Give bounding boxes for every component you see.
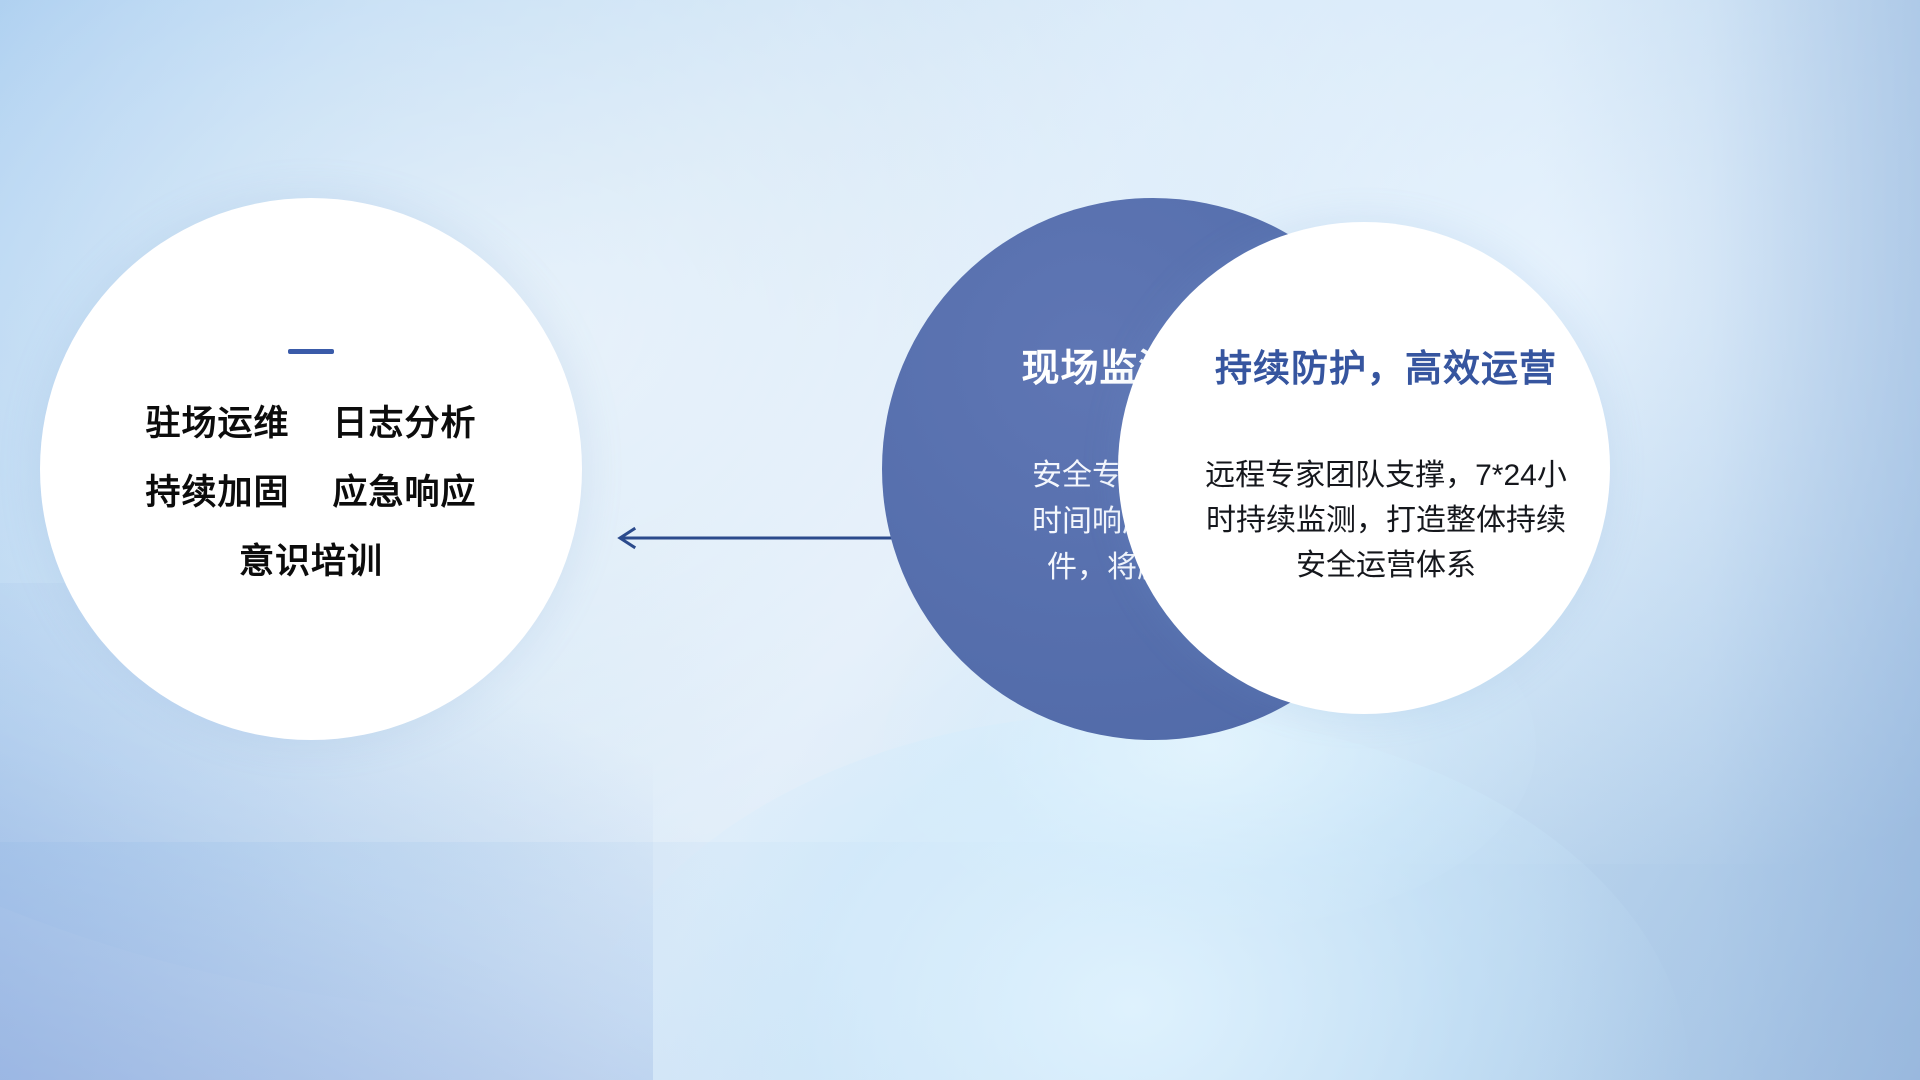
accent-divider bbox=[288, 349, 334, 354]
capability-list: 驻场运维 日志分析 持续加固 应急响应 意识培训 bbox=[96, 349, 526, 589]
capability-circle-left: 驻场运维 日志分析 持续加固 应急响应 意识培训 bbox=[40, 198, 582, 740]
arrow-left-icon bbox=[600, 525, 900, 551]
capability-line-1: 驻场运维 日志分析 bbox=[96, 406, 526, 441]
slide-canvas: 驻场运维 日志分析 持续加固 应急响应 意识培训 现场监测，快速响应 安全专家现… bbox=[0, 0, 1920, 1080]
continuous-protection-body: 远程专家团队支撑，7*24小时持续监测，打造整体持续安全运营体系 bbox=[1200, 453, 1572, 588]
capability-line-3: 意识培训 bbox=[96, 544, 526, 579]
continuous-protection-circle: 持续防护，高效运营 远程专家团队支撑，7*24小时持续监测，打造整体持续安全运营… bbox=[1118, 222, 1610, 714]
connector-arrow bbox=[600, 525, 900, 551]
capability-line-2: 持续加固 应急响应 bbox=[96, 475, 526, 510]
continuous-protection-content: 持续防护，高效运营 远程专家团队支撑，7*24小时持续监测，打造整体持续安全运营… bbox=[1190, 348, 1582, 588]
continuous-protection-title: 持续防护，高效运营 bbox=[1190, 348, 1582, 391]
